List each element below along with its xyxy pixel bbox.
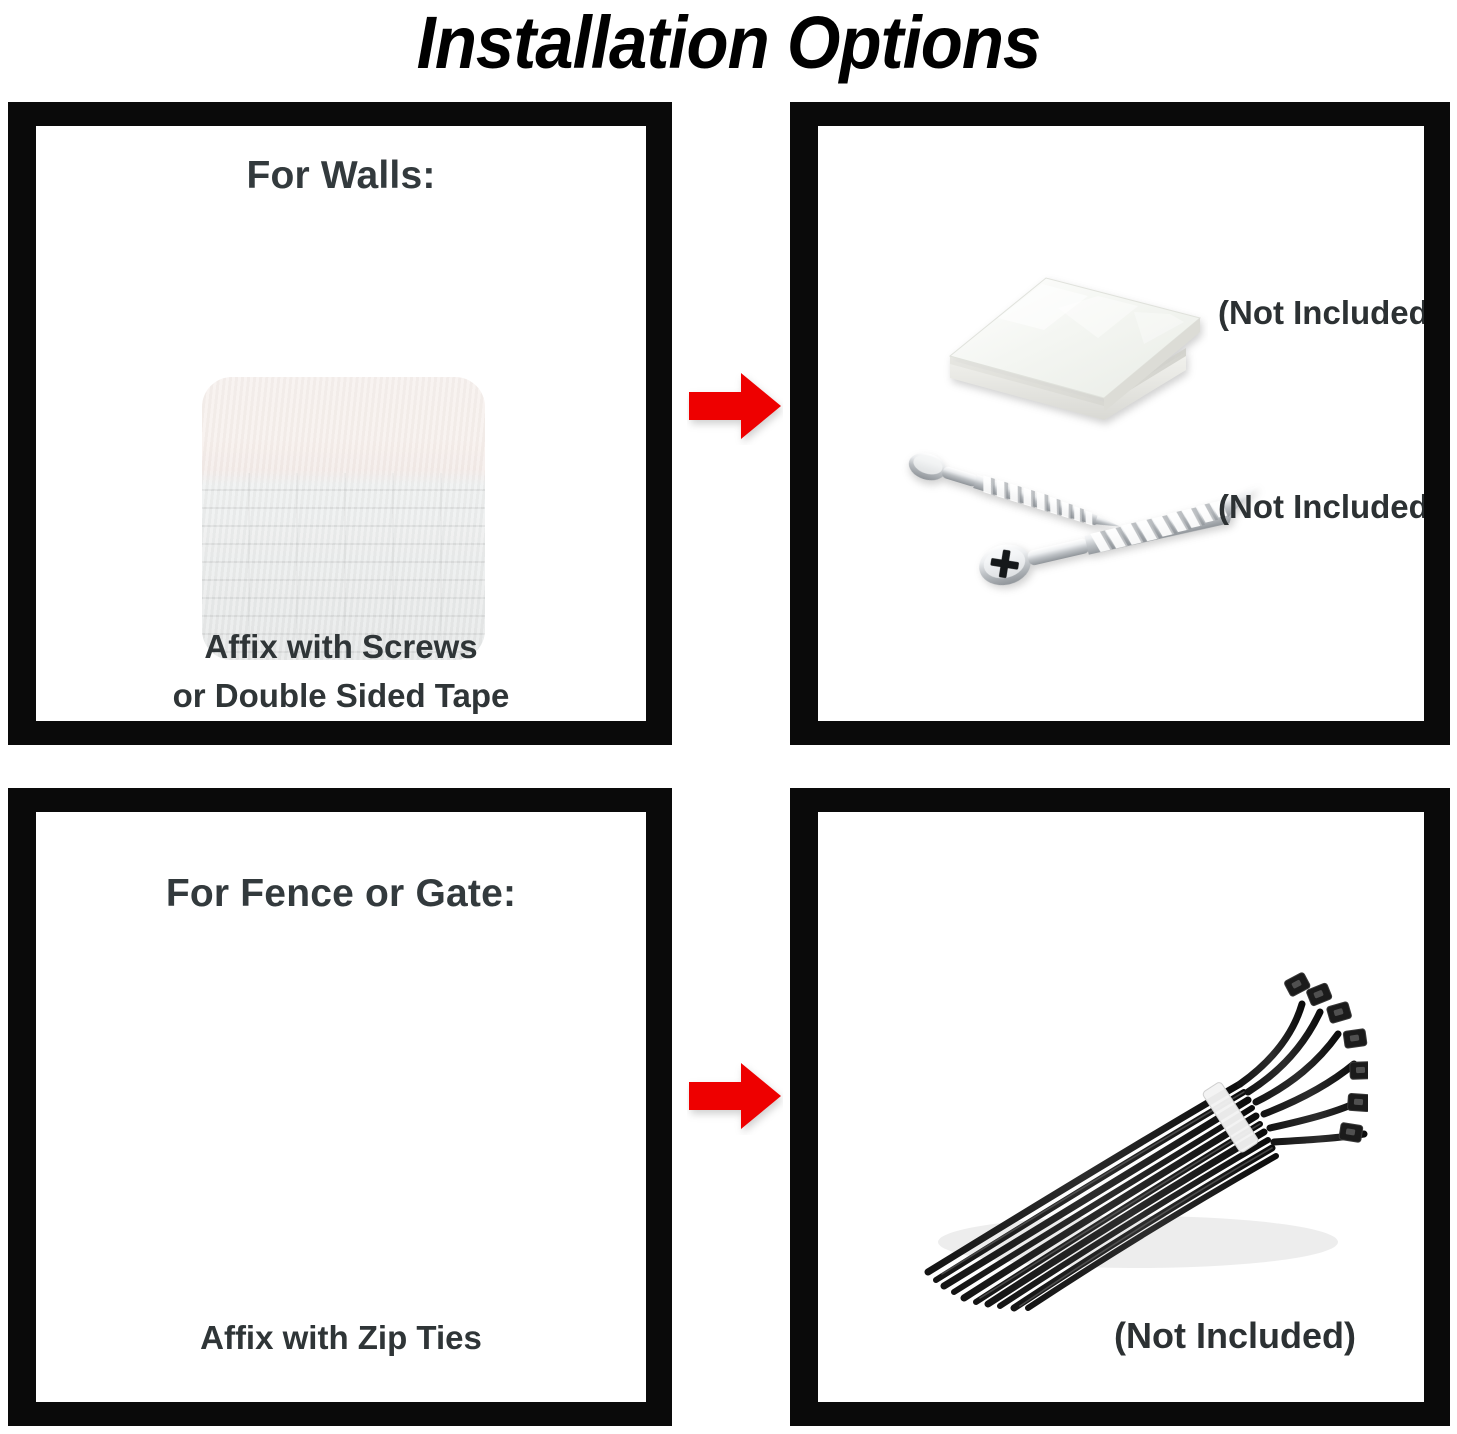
red-arrow-right-icon <box>687 1057 783 1135</box>
wood-screws-image <box>898 446 1278 646</box>
screws-not-included-label: (Not Included) <box>1218 488 1424 526</box>
zip-ties-not-included-label: (Not Included) <box>1114 1315 1356 1357</box>
for-walls-caption-line1: Affix with Screws <box>36 626 646 668</box>
tape-not-included-label: (Not Included) <box>1218 294 1424 332</box>
for-fence-heading: For Fence or Gate: <box>36 872 646 916</box>
zip-ties-bundle-image <box>888 942 1368 1332</box>
panel-wall-hardware: (Not Included) <box>790 102 1450 745</box>
panel-zip-ties: (Not Included) <box>790 788 1450 1426</box>
double-sided-tape-stack-image <box>938 252 1208 432</box>
panel-zip-ties-content: (Not Included) <box>818 812 1424 1402</box>
wall-texture <box>202 377 485 660</box>
panel-for-walls: For Walls: Affix with Screws or Double S… <box>8 102 672 745</box>
red-arrow-right-icon <box>687 367 783 445</box>
wall-photo <box>202 377 485 660</box>
panel-for-fence-or-gate-content: For Fence or Gate: Affix with Zip Ties <box>36 812 646 1402</box>
panel-for-walls-content: For Walls: Affix with Screws or Double S… <box>36 126 646 721</box>
for-walls-heading: For Walls: <box>36 154 646 198</box>
for-walls-caption-line2: or Double Sided Tape <box>36 675 646 717</box>
for-fence-caption: Affix with Zip Ties <box>36 1317 646 1359</box>
panel-wall-hardware-content: (Not Included) <box>818 126 1424 721</box>
panel-for-fence-or-gate: For Fence or Gate: Affix with Zip Ties <box>8 788 672 1426</box>
page-title: Installation Options <box>51 0 1406 88</box>
